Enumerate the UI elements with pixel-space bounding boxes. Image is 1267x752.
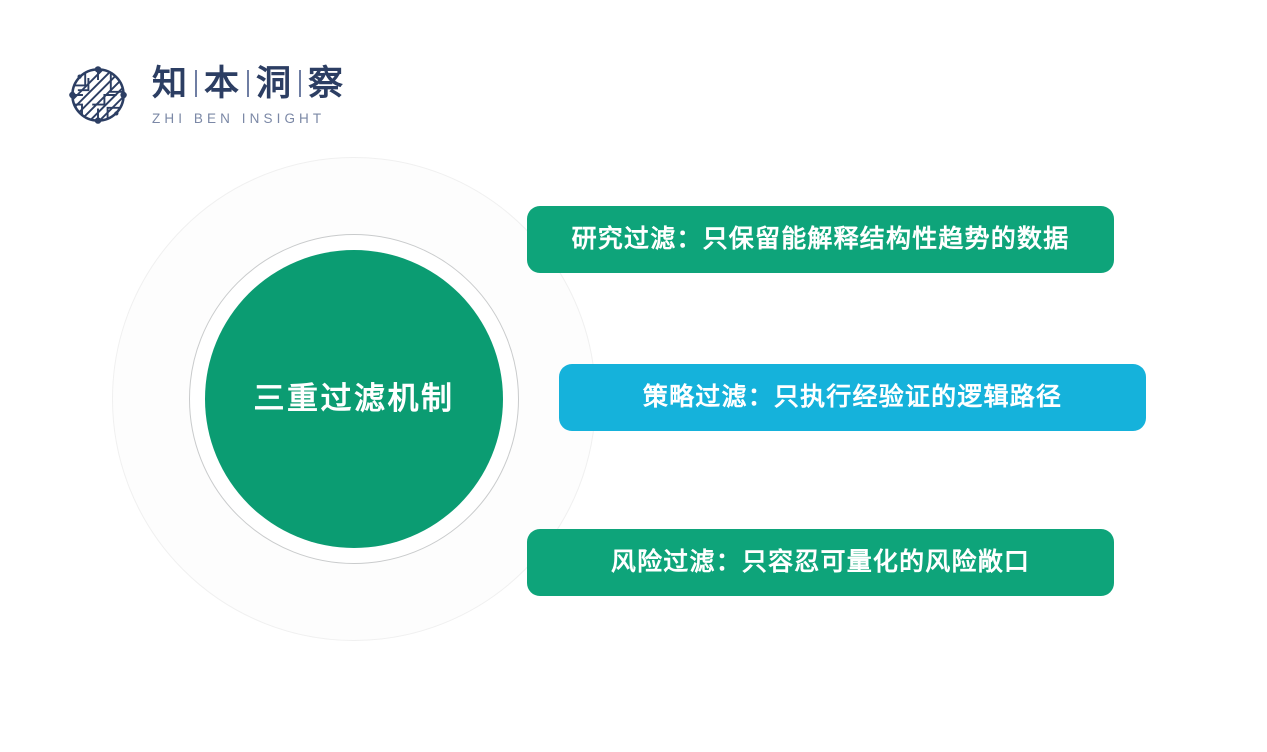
brand-name-en: ZHI BEN INSIGHT (152, 112, 344, 126)
slide-canvas: 知 本 洞 察 ZHI BEN INSIGHT 三重过滤机制 研究过滤：只保留能… (0, 0, 1267, 752)
filter-bar-label: 策略过滤：只执行经验证的逻辑路径 (643, 385, 1062, 410)
brand-name-cn: 知 本 洞 察 (152, 66, 344, 101)
filter-bar-label: 研究过滤：只保留能解释结构性趋势的数据 (572, 227, 1070, 252)
brand-divider (299, 70, 301, 97)
brand-char-1: 知 (152, 66, 188, 101)
center-circle-label: 三重过滤机制 (254, 380, 455, 417)
brand-text-block: 知 本 洞 察 ZHI BEN INSIGHT (152, 64, 344, 126)
brand-divider (195, 70, 197, 97)
filter-bar-risk[interactable]: 风险过滤：只容忍可量化的风险敞口 (527, 529, 1114, 596)
brand-char-4: 察 (308, 66, 344, 101)
circular-network-emblem-icon (58, 55, 138, 135)
brand-divider (247, 70, 249, 97)
filter-bar-research[interactable]: 研究过滤：只保留能解释结构性趋势的数据 (527, 206, 1114, 273)
center-circle: 三重过滤机制 (205, 250, 503, 548)
brand-logo: 知 本 洞 察 ZHI BEN INSIGHT (58, 55, 344, 135)
filter-bar-label: 风险过滤：只容忍可量化的风险敞口 (611, 550, 1030, 575)
brand-char-3: 洞 (256, 66, 292, 101)
brand-char-2: 本 (204, 66, 240, 101)
filter-bar-strategy[interactable]: 策略过滤：只执行经验证的逻辑路径 (559, 364, 1146, 431)
